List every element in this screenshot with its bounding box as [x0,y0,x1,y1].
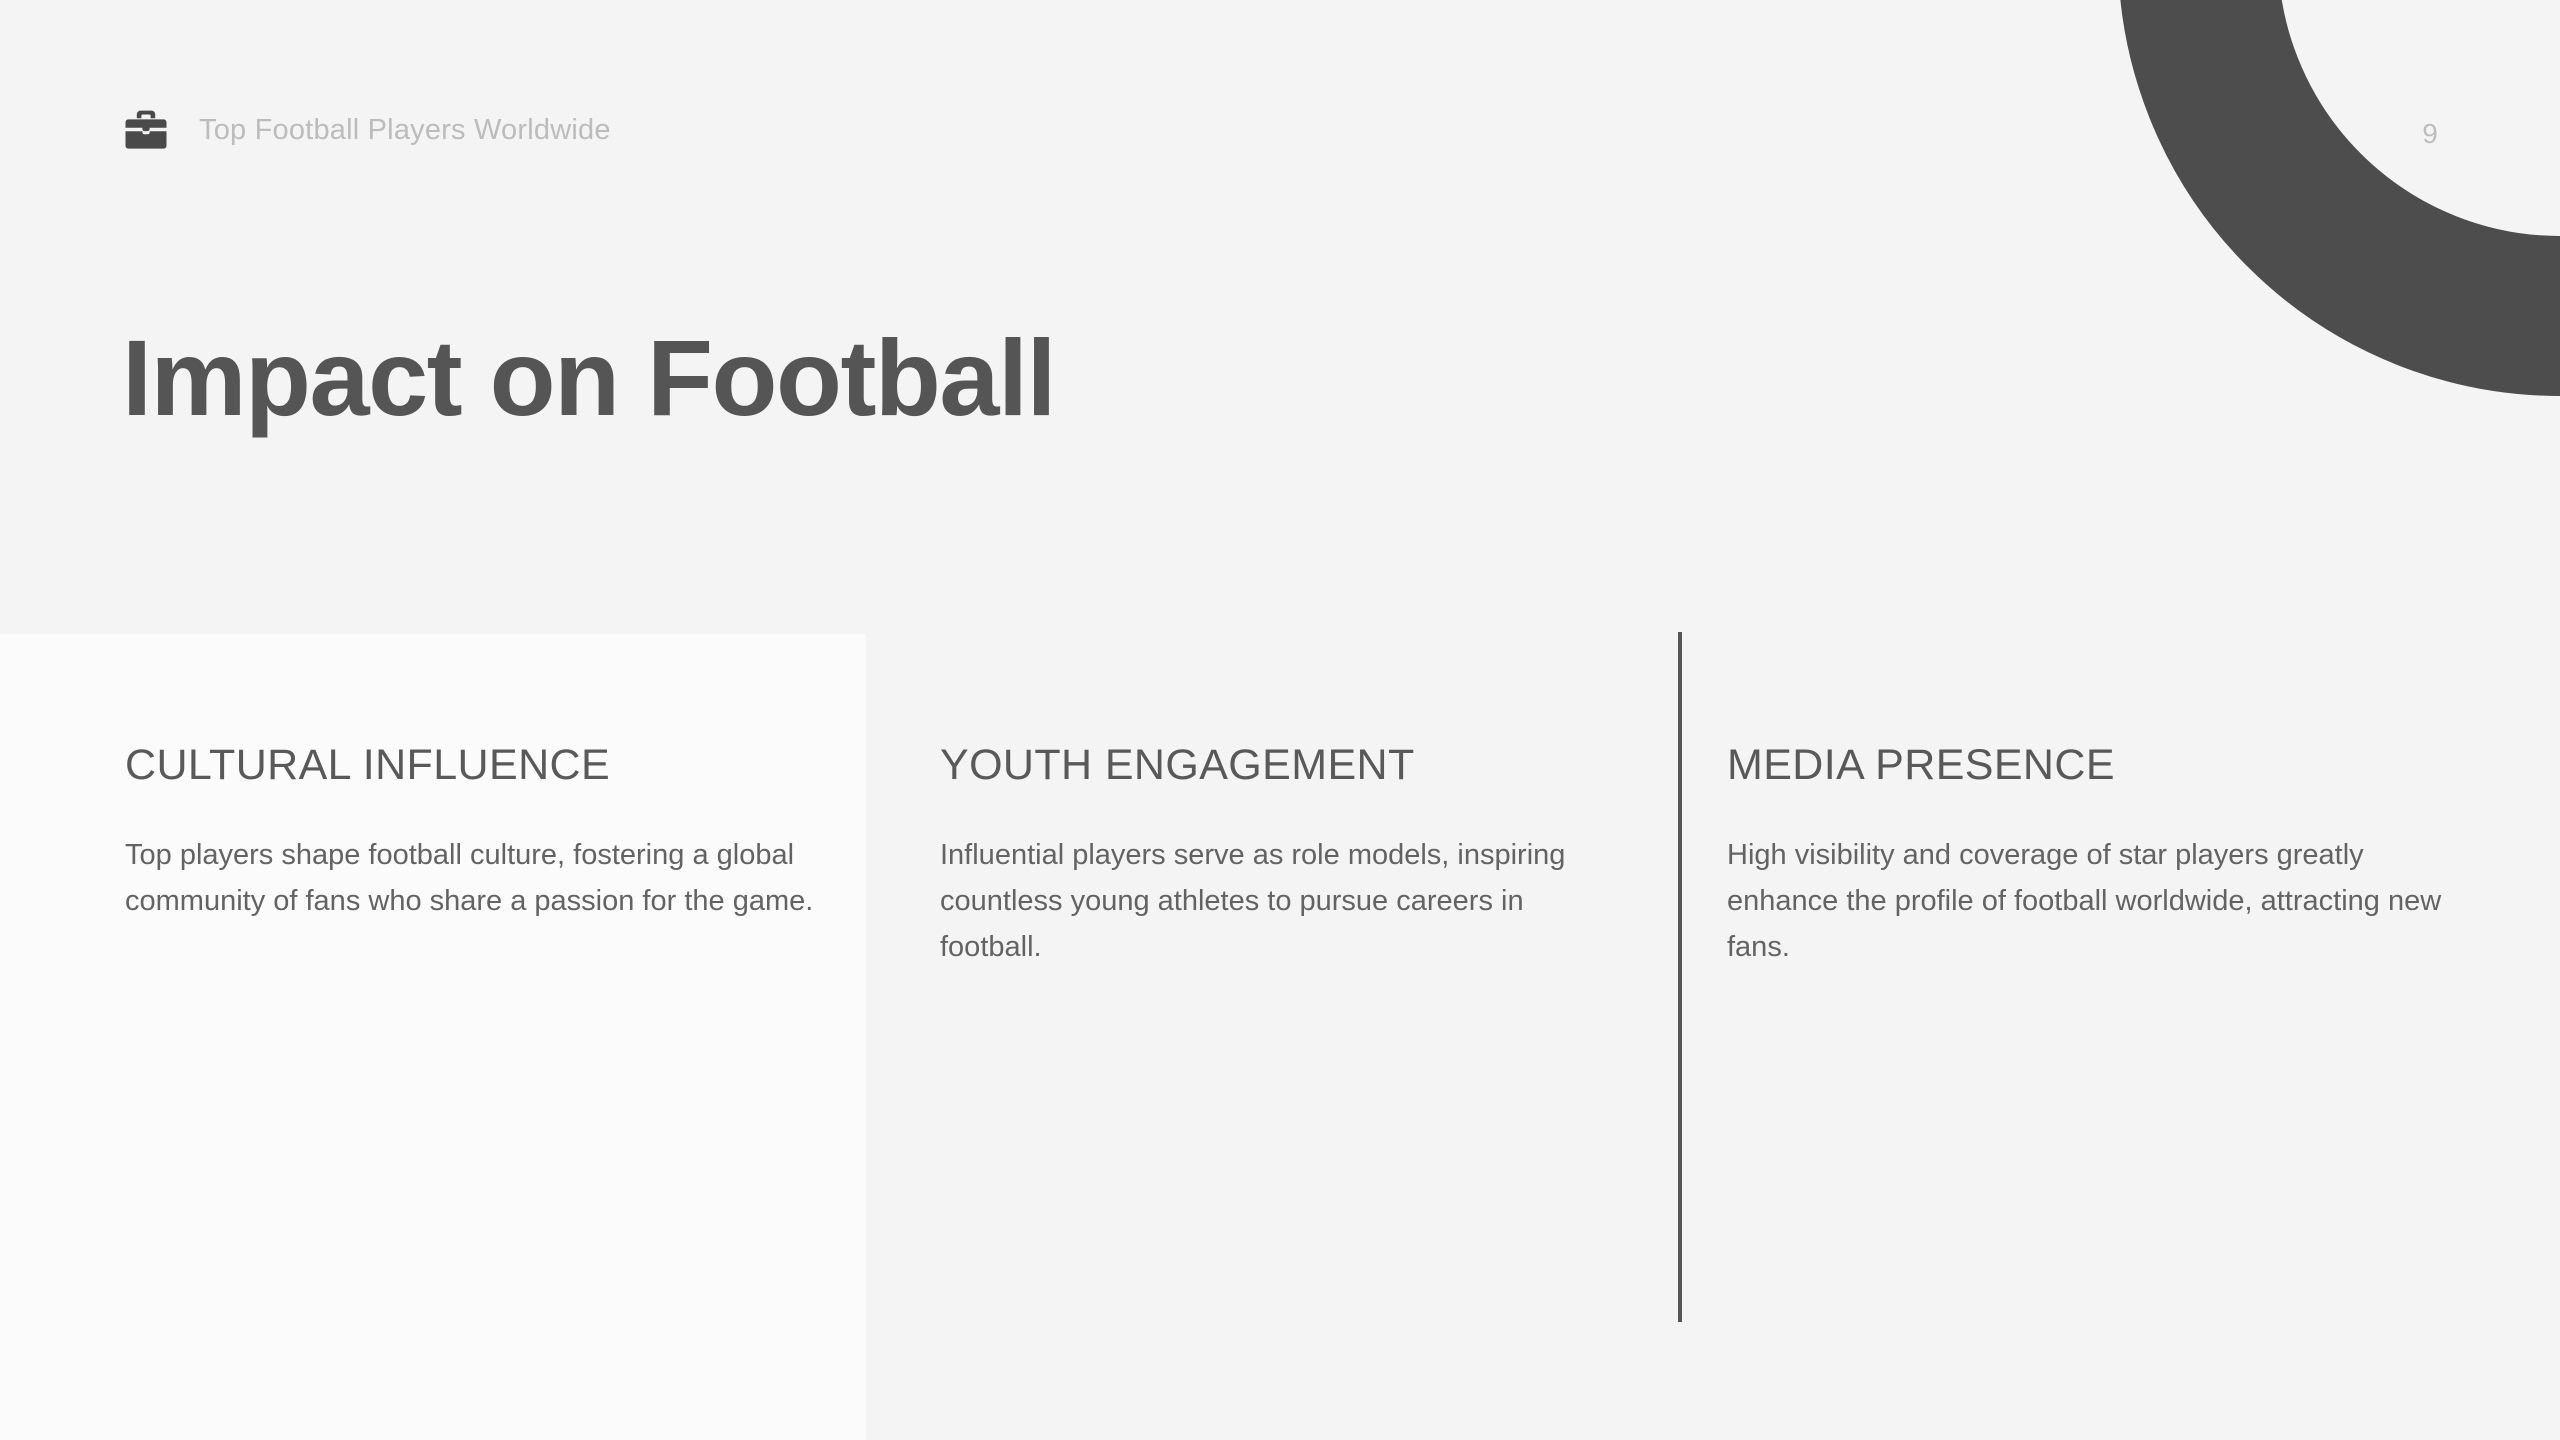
column-body: Top players shape football culture, fost… [125,833,825,925]
decorative-ring-shape [2118,0,2560,396]
column-heading: MEDIA PRESENCE [1727,744,2447,787]
briefcase-icon [125,110,167,150]
slide-header: Top Football Players Worldwide [125,108,611,152]
column-body: Influential players serve as role models… [940,833,1630,970]
slide-canvas: Top Football Players Worldwide 9 Impact … [0,0,2560,1440]
page-number: 9 [2400,120,2460,148]
header-title: Top Football Players Worldwide [199,116,611,145]
page-title: Impact on Football [122,320,1055,437]
column-heading: YOUTH ENGAGEMENT [940,744,1630,787]
content-column-media-presence: MEDIA PRESENCE High visibility and cover… [1727,744,2447,970]
content-columns: CULTURAL INFLUENCE Top players shape foo… [0,744,2560,1004]
content-column-cultural-influence: CULTURAL INFLUENCE Top players shape foo… [125,744,825,925]
column-body: High visibility and coverage of star pla… [1727,833,2447,970]
content-column-youth-engagement: YOUTH ENGAGEMENT Influential players ser… [940,744,1630,970]
column-heading: CULTURAL INFLUENCE [125,744,825,787]
